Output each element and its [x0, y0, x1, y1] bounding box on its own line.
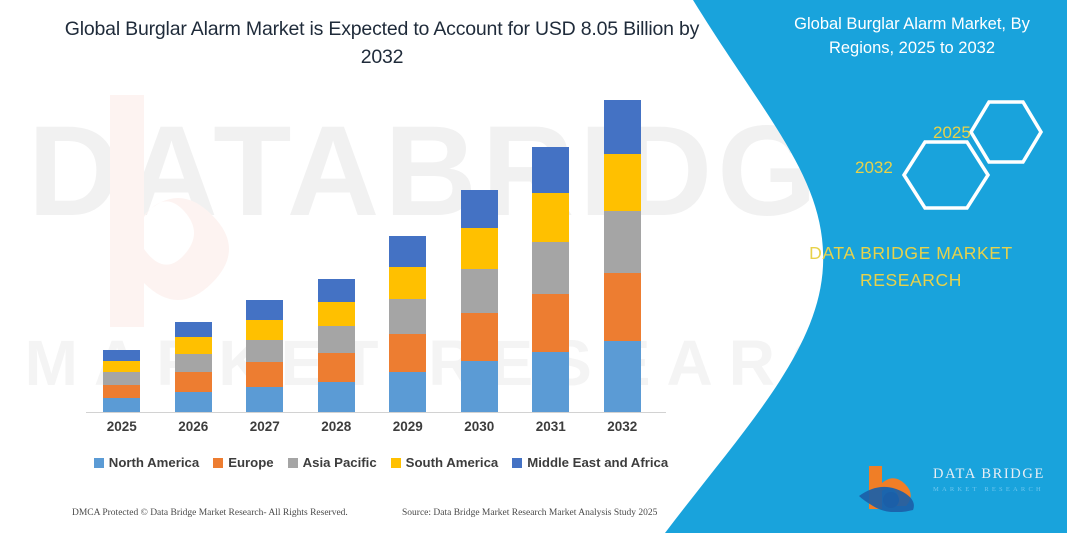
logo: DATA BRIDGE MARKET RESEARCH — [855, 462, 1055, 514]
logo-mark-icon — [855, 462, 929, 512]
bar-segment[interactable] — [604, 100, 641, 154]
bars-container — [86, 100, 666, 413]
footer-copyright: DMCA Protected © Data Bridge Market Rese… — [72, 508, 348, 518]
bar-segment[interactable] — [175, 322, 212, 338]
legend-swatch-icon — [213, 458, 223, 468]
logo-text: DATA BRIDGE MARKET RESEARCH — [933, 466, 1045, 493]
bar-segment[interactable] — [175, 372, 212, 392]
hexagon-2025-label: 2025 — [933, 123, 971, 143]
x-axis-label: 2031 — [515, 419, 587, 434]
bar-segment[interactable] — [604, 341, 641, 413]
bar-segment[interactable] — [389, 236, 426, 267]
logo-subtitle: MARKET RESEARCH — [933, 486, 1045, 493]
bar-segment[interactable] — [103, 361, 140, 372]
brand-name: DATA BRIDGE MARKET RESEARCH — [771, 240, 1051, 294]
bar-chart — [86, 100, 666, 413]
bar-segment[interactable] — [461, 313, 498, 362]
infographic-canvas: DATABRIDGE MARKET RESEARCH Global Burgla… — [0, 0, 1067, 533]
legend-swatch-icon — [512, 458, 522, 468]
bar-segment[interactable] — [461, 228, 498, 269]
bar-segment[interactable] — [103, 350, 140, 361]
bar-segment[interactable] — [246, 300, 283, 319]
stacked-bar[interactable] — [461, 190, 498, 413]
bar-segment[interactable] — [318, 279, 355, 302]
panel-title: Global Burglar Alarm Market, By Regions,… — [771, 12, 1053, 61]
bar-segment[interactable] — [461, 269, 498, 313]
bar-segment[interactable] — [389, 299, 426, 334]
footer-source: Source: Data Bridge Market Research Mark… — [402, 508, 657, 518]
bar-slot — [158, 100, 230, 413]
bar-segment[interactable] — [246, 320, 283, 341]
legend-swatch-icon — [288, 458, 298, 468]
bar-segment[interactable] — [389, 267, 426, 299]
legend-label: Asia Pacific — [303, 455, 377, 470]
bar-slot — [444, 100, 516, 413]
bar-segment[interactable] — [246, 340, 283, 362]
bar-segment[interactable] — [604, 211, 641, 272]
stacked-bar[interactable] — [532, 147, 569, 413]
hexagon-2032-label: 2032 — [855, 158, 893, 178]
legend-item[interactable]: North America — [94, 455, 199, 470]
bar-segment[interactable] — [318, 326, 355, 352]
stacked-bar[interactable] — [389, 236, 426, 413]
hexagon-labels: 2025 2032 — [821, 98, 1011, 208]
bar-segment[interactable] — [461, 190, 498, 228]
legend-swatch-icon — [391, 458, 401, 468]
legend-label: North America — [109, 455, 199, 470]
bar-segment[interactable] — [318, 353, 355, 382]
bar-segment[interactable] — [532, 147, 569, 193]
stacked-bar[interactable] — [246, 300, 283, 413]
bar-segment[interactable] — [604, 154, 641, 211]
stacked-bar[interactable] — [103, 350, 140, 413]
legend-label: Europe — [228, 455, 273, 470]
bar-segment[interactable] — [318, 302, 355, 326]
x-axis-label: 2030 — [444, 419, 516, 434]
chart-legend: North AmericaEuropeAsia PacificSouth Ame… — [86, 455, 676, 470]
bar-segment[interactable] — [246, 387, 283, 413]
bar-segment[interactable] — [175, 354, 212, 372]
logo-title: DATA BRIDGE — [933, 466, 1045, 483]
bar-segment[interactable] — [318, 382, 355, 413]
bar-slot — [515, 100, 587, 413]
stacked-bar[interactable] — [604, 100, 641, 413]
bar-slot — [372, 100, 444, 413]
bar-segment[interactable] — [103, 385, 140, 399]
bar-segment[interactable] — [461, 361, 498, 413]
bar-segment[interactable] — [532, 294, 569, 352]
legend-item[interactable]: Middle East and Africa — [512, 455, 668, 470]
legend-item[interactable]: Europe — [213, 455, 273, 470]
bar-slot — [229, 100, 301, 413]
legend-swatch-icon — [94, 458, 104, 468]
x-axis-labels: 20252026202720282029203020312032 — [86, 419, 666, 434]
x-axis-label: 2028 — [301, 419, 373, 434]
x-axis-label: 2027 — [229, 419, 301, 434]
bar-slot — [301, 100, 373, 413]
bar-segment[interactable] — [103, 398, 140, 413]
bar-segment[interactable] — [175, 392, 212, 413]
x-axis-label: 2025 — [86, 419, 158, 434]
x-axis-label: 2026 — [158, 419, 230, 434]
bar-segment[interactable] — [532, 193, 569, 242]
bar-segment[interactable] — [604, 273, 641, 341]
bar-segment[interactable] — [389, 372, 426, 413]
x-axis-line — [86, 412, 666, 413]
bar-segment[interactable] — [175, 337, 212, 354]
page-title: Global Burglar Alarm Market is Expected … — [62, 16, 702, 71]
legend-item[interactable]: South America — [391, 455, 499, 470]
bar-slot — [86, 100, 158, 413]
bar-segment[interactable] — [246, 362, 283, 386]
legend-label: South America — [406, 455, 499, 470]
legend-item[interactable]: Asia Pacific — [288, 455, 377, 470]
stacked-bar[interactable] — [175, 322, 212, 413]
bar-segment[interactable] — [389, 334, 426, 372]
x-axis-label: 2029 — [372, 419, 444, 434]
bar-segment[interactable] — [532, 352, 569, 413]
stacked-bar[interactable] — [318, 279, 355, 413]
bar-segment[interactable] — [103, 372, 140, 384]
bar-segment[interactable] — [532, 242, 569, 294]
